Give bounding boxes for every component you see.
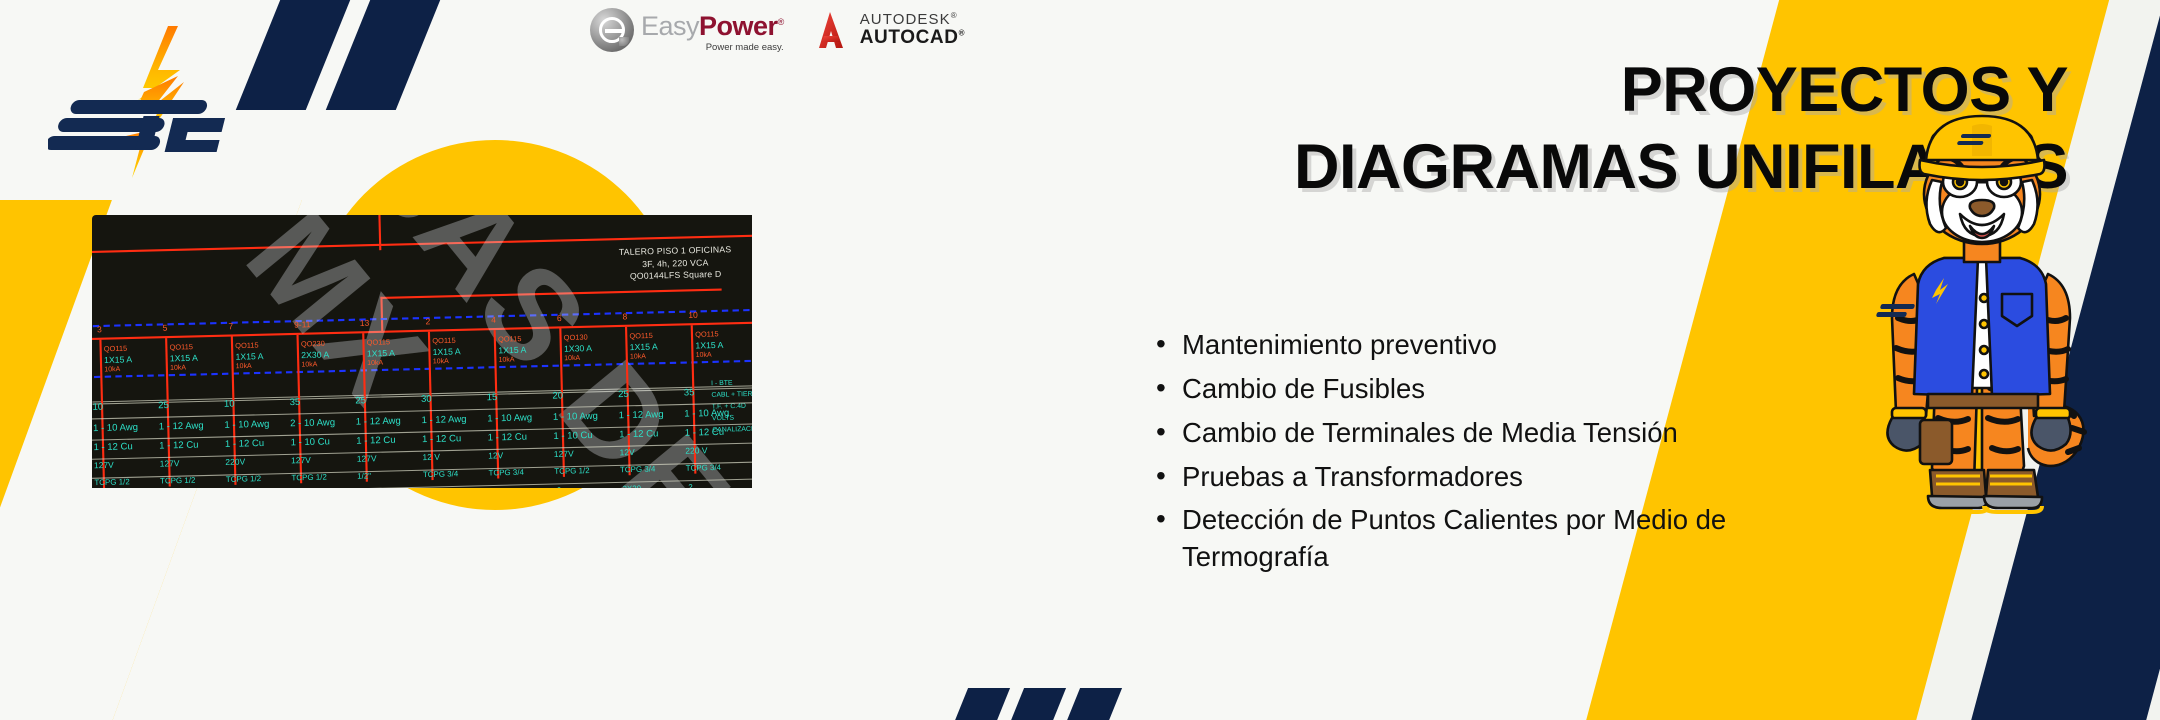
tiger-engineer-mascot: [1832, 108, 2132, 520]
breaker-ka: 10kA: [104, 365, 132, 374]
autodesk-registered-mark: ®: [951, 11, 958, 20]
schedule-conductor: 1 - 12 Awg: [159, 420, 204, 432]
schedule-voltage: 12V: [619, 448, 634, 458]
schedule-voltage: 12V: [488, 451, 503, 461]
breaker-label: QO1151X15 A10kA: [169, 344, 198, 374]
schedule-voltage: 127V: [357, 454, 377, 464]
breaker-ka: 10kA: [630, 353, 658, 362]
circuit-number: 6: [557, 314, 562, 324]
easypower-e-icon: [590, 8, 634, 52]
schedule-voltage: 127V: [554, 449, 574, 459]
navy-slash-decoration: [1064, 688, 1122, 720]
circuit-number: 9-11: [294, 320, 311, 330]
circuit-number: 4: [491, 315, 496, 325]
schedule-voltage: 127V: [94, 460, 114, 470]
diagram-title-block: TALERO PISO 1 OFICINAS 3F, 4h, 220 VCA Q…: [595, 243, 752, 284]
breaker-label: QO1151X15 A10kA: [498, 336, 527, 366]
easypower-tagline: Power made easy.: [641, 43, 784, 53]
easypower-logo: EasyPower® Power made easy.: [590, 8, 784, 52]
circuit-number: 8: [622, 312, 627, 322]
schedule-conductor: 1 - 10 Awg: [553, 410, 598, 422]
schedule-conduit: 1/2": [357, 471, 371, 481]
breaker-ka: 10kA: [367, 359, 395, 368]
breaker-label: QO1151X15 A10kA: [235, 342, 264, 372]
breaker-ka: 10kA: [170, 364, 198, 373]
easypower-power-text: Power: [699, 11, 778, 41]
side-note: CABL + TIERRA: [711, 388, 752, 401]
schedule-voltage: 220V: [225, 457, 245, 467]
schedule-conductor: 1 - 10 Awg: [684, 407, 729, 419]
schedule-ground: 1 - 12 Cu: [159, 439, 199, 451]
autodesk-a-icon: [810, 9, 852, 51]
schedule-amps: 30: [421, 393, 432, 404]
autocad-registered-mark: ®: [959, 29, 966, 38]
breaker-rating: 1X15 A: [432, 347, 460, 357]
schedule-voltage: 12 V: [422, 452, 440, 462]
breaker-rating: 1X15 A: [170, 353, 198, 363]
service-item: Cambio de Terminales de Media Tensión: [1142, 415, 1762, 452]
breaker-rating: 2X30 A: [301, 350, 329, 360]
circuit-number: 7: [228, 322, 233, 332]
schedule-conductor: 1 - 12 Awg: [356, 415, 401, 427]
schedule-ground: 1 - 12 Cu: [619, 428, 659, 440]
service-item: Pruebas a Transformadores: [1142, 459, 1762, 496]
schedule-conductor: 1 - 12 Awg: [619, 409, 664, 421]
schedule-amps: 35: [684, 387, 695, 398]
breaker-label: QO1151X15 A10kA: [432, 337, 461, 367]
schedule-conduit: TCPG 1/2: [554, 466, 590, 476]
service-item: Cambio de Fusibles: [1142, 371, 1762, 408]
schedule-ground: 1 - 12 Cu: [488, 431, 528, 443]
partner-logos: EasyPower® Power made easy.: [590, 8, 965, 52]
breaker-ka: 10kA: [564, 354, 592, 363]
schedule-amps: 10: [92, 401, 103, 412]
navy-slash-decoration: [1008, 688, 1066, 720]
schedule-conductor: 2 - 10 Awg: [290, 417, 335, 429]
schedule-ground: 1 - 10 Cu: [553, 430, 593, 442]
circuit-number: 10: [688, 310, 698, 320]
breaker-rating: 1X15 A: [498, 345, 526, 355]
schedule-amps: 15: [487, 392, 498, 403]
breaker-rating: 1X15 A: [695, 340, 723, 350]
schedule-ground: 1 - 10 Cu: [290, 436, 330, 448]
schedule-tag: 2X30: [491, 487, 510, 488]
autodesk-autocad-logo: AUTODESK® AUTOCAD®: [810, 9, 965, 51]
breaker-ka: 10kA: [696, 351, 724, 360]
breaker-rating: 1X15 A: [367, 348, 395, 358]
easypower-easy-text: Easy: [641, 11, 699, 41]
circuit-number: 13: [360, 318, 370, 328]
schedule-ground: 1 - 12 Cu: [422, 433, 462, 445]
schedule-conduit: TCPG 3/4: [423, 469, 459, 479]
breaker-ka: 10kA: [498, 356, 526, 365]
schedule-conduit: TCPG 1/2: [291, 472, 327, 482]
schedule-ground: 1 - 12 Cu: [685, 426, 725, 438]
breaker-rating: 1X30 A: [564, 343, 592, 353]
side-note: I - BTE: [711, 377, 752, 390]
schedule-conductor: 1 - 10 Awg: [93, 422, 138, 434]
schedule-tag: 2X30: [622, 483, 641, 488]
schedule-conduit: TCPG 1/2: [226, 474, 262, 484]
schedule-amps: 25: [355, 395, 366, 406]
breaker-label: QO1151X15 A10kA: [695, 331, 724, 361]
unifilar-diagram-photo: TALERO PISO 1 OFICINAS 3F, 4h, 220 VCA Q…: [92, 215, 752, 488]
schedule-amps: 25: [618, 388, 629, 399]
schedule-conduit: TCPG 3/4: [488, 467, 524, 477]
breaker-rating: 1X15 A: [104, 355, 132, 365]
easypower-registered-mark: ®: [778, 17, 784, 27]
schedule-conductor: 1 - 12 Awg: [421, 414, 466, 426]
breaker-ka: 10kA: [236, 362, 264, 371]
schedule-amps: 10: [224, 398, 235, 409]
autodesk-wordmark: AUTODESK: [860, 11, 951, 28]
schedule-amps: 25: [158, 400, 169, 411]
schedule-conduit: TCPG 1/2: [160, 475, 196, 485]
circuit-number: 2: [425, 317, 430, 327]
schedule-ground: 1 - 12 Cu: [356, 434, 396, 446]
circuit-number: 5: [163, 323, 168, 333]
sg-logo: [48, 18, 308, 198]
schedule-voltage: 220 V: [685, 446, 707, 456]
schedule-conduit: TCPG 1/2: [94, 477, 130, 487]
schedule-conduit: TCPG 3/4: [686, 462, 722, 472]
service-item: Mantenimiento preventivo: [1142, 327, 1762, 364]
service-item: Detección de Puntos Calientes por Medio …: [1142, 502, 1762, 576]
breaker-ka: 10kA: [433, 357, 461, 366]
breaker-rating: 1X15 A: [235, 351, 263, 361]
title-block-line-3: QO0144LFS Square D: [596, 268, 752, 284]
schedule-conduit: TCPG 3/4: [620, 464, 656, 474]
schedule-voltage: 127V: [291, 455, 311, 465]
schedule-amps: 35: [290, 396, 301, 407]
schedule-voltage: 127V: [160, 459, 180, 469]
schedule-conductor: 1 - 10 Awg: [487, 412, 532, 424]
breaker-rating: 1X15 A: [630, 342, 658, 352]
schedule-amps: 20: [552, 390, 563, 401]
schedule-ground: 1 - 12 Cu: [93, 441, 133, 453]
promo-banner: EasyPower® Power made easy.: [0, 0, 2160, 720]
navy-slash-decoration: [952, 688, 1010, 720]
services-list: Mantenimiento preventivoCambio de Fusibl…: [1142, 327, 1762, 583]
breaker-label: QO1151X15 A10kA: [104, 345, 133, 375]
circuit-number: 3: [97, 325, 102, 335]
breaker-label: QO1301X30 A10kA: [564, 334, 593, 364]
breaker-label: QO1151X15 A10kA: [367, 339, 396, 369]
breaker-label: QO2302X30 A10kA: [301, 341, 330, 371]
breaker-label: QO1151X15 A10kA: [629, 332, 658, 362]
schedule-ground: 1 - 12 Cu: [225, 438, 265, 450]
schedule-conductor: 1 - 10 Awg: [224, 418, 269, 430]
breaker-ka: 10kA: [301, 361, 329, 370]
schedule-tag: 2: [557, 485, 562, 488]
autocad-wordmark: AUTOCAD: [860, 27, 959, 48]
schedule-tag: 2: [688, 482, 693, 488]
